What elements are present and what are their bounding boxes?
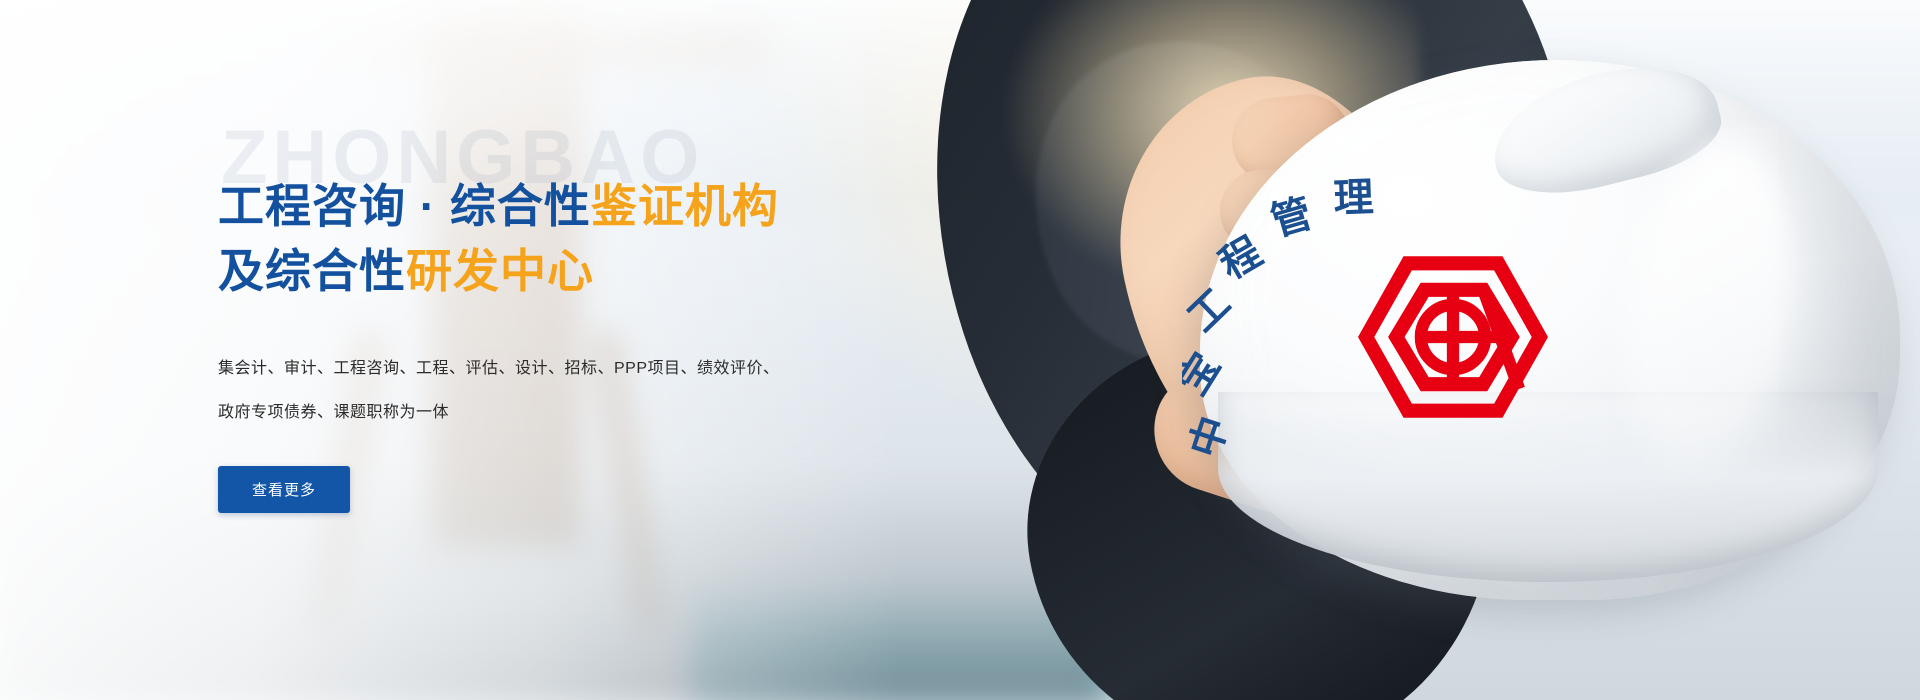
- svg-text:程: 程: [1213, 230, 1270, 288]
- headline-line1-primary: 工程咨询 · 综合性: [218, 180, 591, 232]
- view-more-button[interactable]: 查看更多: [218, 466, 350, 513]
- headline-line-1: 工程咨询 · 综合性鉴证机构: [218, 180, 779, 232]
- svg-text:理: 理: [1333, 176, 1375, 221]
- headline-line2-accent: 研发中心: [406, 245, 594, 297]
- hero-content: ZHONGBAO 工程咨询 · 综合性鉴证机构 及综合性研发中心 集会计、审计、…: [218, 120, 1038, 513]
- svg-text:工: 工: [1182, 281, 1239, 340]
- headline-line-2: 及综合性研发中心: [218, 245, 594, 297]
- subtitle-line-2: 政府专项债券、课题职称为一体: [218, 391, 1038, 436]
- headline-line2-primary: 及综合性: [218, 245, 406, 297]
- subtitle-line-1: 集会计、审计、工程咨询、工程、评估、设计、招标、PPP项目、绩效评价、: [218, 347, 1038, 392]
- page-title: 工程咨询 · 综合性鉴证机构 及综合性研发中心: [218, 120, 1038, 305]
- helmet-brand-text: 中 宝 工 程 管 理: [1182, 120, 1562, 520]
- hero-banner: 中 宝 工 程 管 理 ZHONGBAO 工程咨询 · 综合性鉴证机构 及综合性…: [0, 0, 1920, 700]
- headline-line1-accent: 鉴证机构: [591, 180, 779, 232]
- svg-text:管: 管: [1266, 191, 1317, 244]
- hero-subtitle: 集会计、审计、工程咨询、工程、评估、设计、招标、PPP项目、绩效评价、 政府专项…: [218, 347, 1038, 437]
- svg-text:中: 中: [1183, 411, 1237, 463]
- svg-text:宝: 宝: [1182, 346, 1229, 403]
